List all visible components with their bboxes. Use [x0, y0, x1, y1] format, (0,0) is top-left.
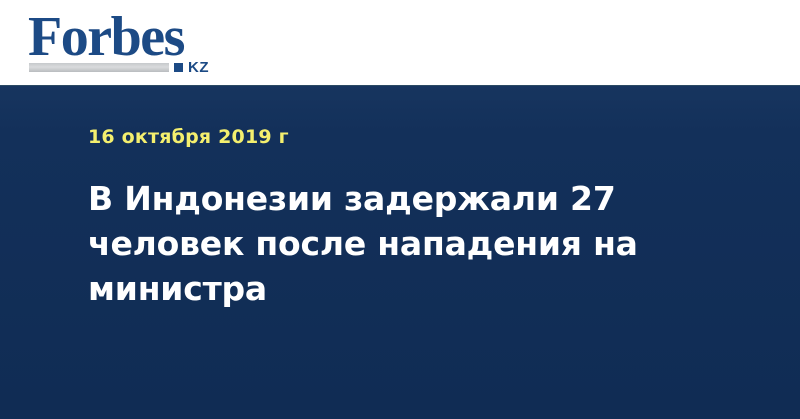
blue-square-icon: [174, 63, 183, 72]
forbes-wordmark: Forbes: [28, 8, 184, 66]
article-hero: 16 октября 2019 г В Индонезии задержали …: [0, 86, 800, 419]
forbes-kz-logo[interactable]: Forbes KZ: [28, 8, 238, 78]
logo-kz-suffix: KZ: [188, 60, 209, 75]
article-hero-page: Forbes KZ 16 октября 2019 г В Индонезии …: [0, 0, 800, 419]
article-headline: В Индонезии задержали 27 человек после н…: [88, 176, 658, 311]
gray-rule-icon: [29, 63, 169, 72]
site-header: Forbes KZ: [0, 0, 800, 86]
article-date: 16 октября 2019 г: [88, 126, 289, 148]
